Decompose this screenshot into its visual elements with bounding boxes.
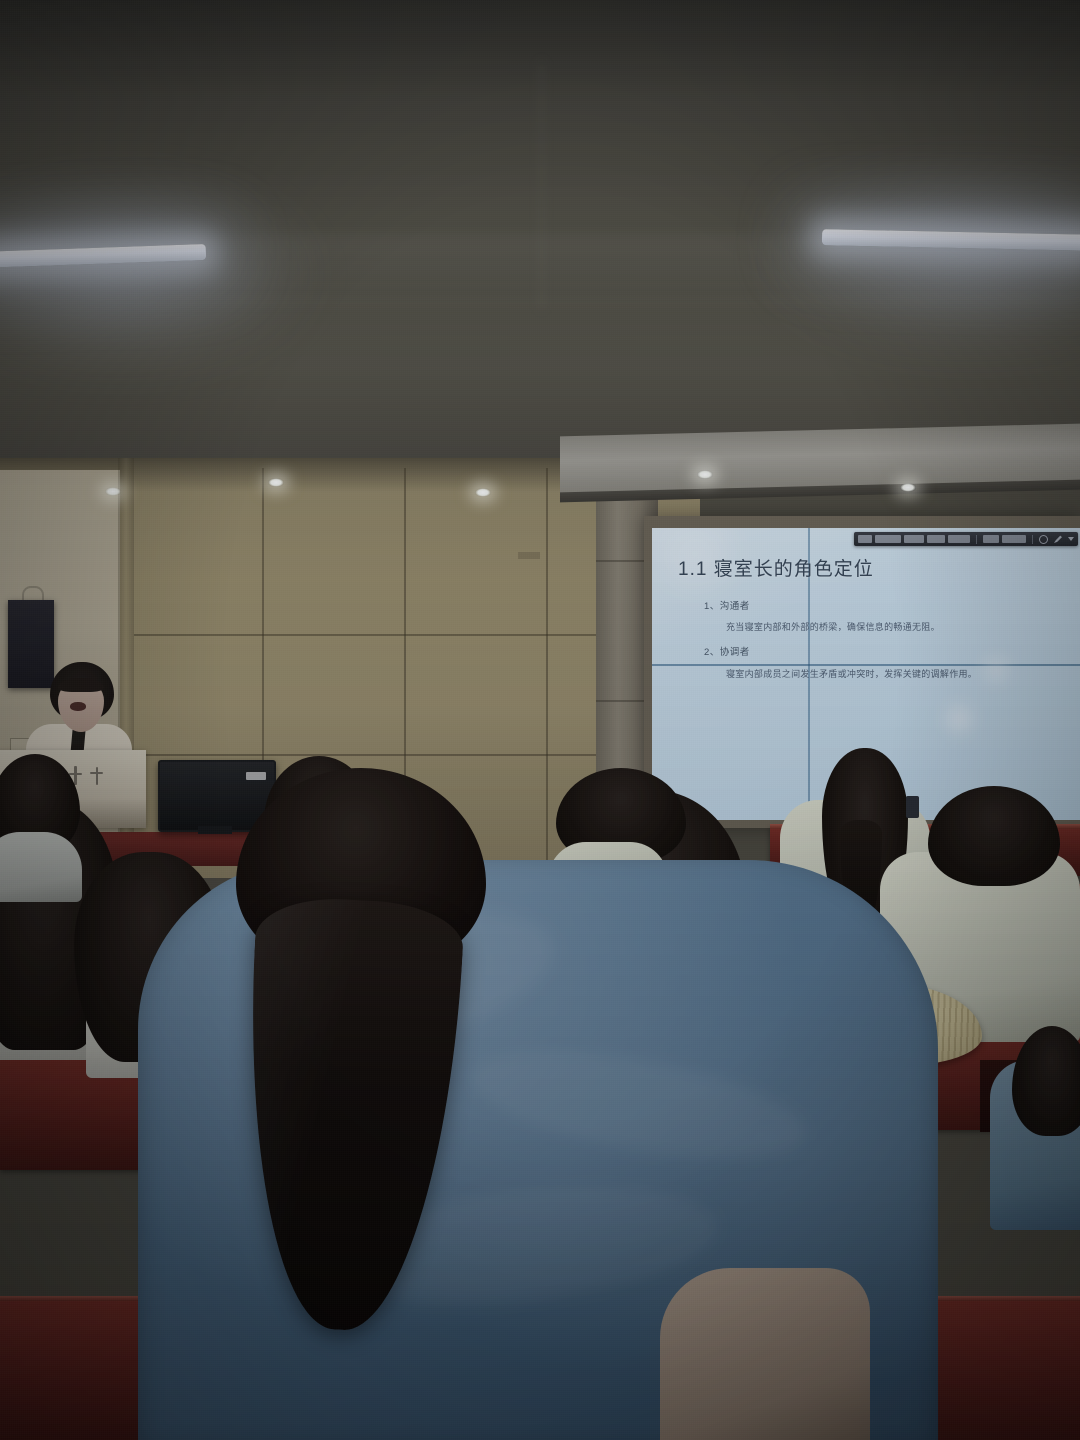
monitor-stand	[198, 826, 232, 834]
monitor-brand-badge	[246, 772, 266, 780]
lecture-hall-photo: 1.1 寝室长的角色定位 1、沟通者 充当寝室内部和外部的桥梁，确保信息的畅通无…	[0, 0, 1080, 1440]
ceiling-panel-edge	[540, 60, 543, 310]
recessed-downlight	[475, 488, 491, 497]
slide-bullet-detail: 充当寝室内部和外部的桥梁，确保信息的畅通无阻。	[726, 620, 940, 633]
presenter-fringe	[58, 678, 104, 692]
recessed-downlight	[900, 483, 916, 492]
recessed-downlight	[697, 470, 713, 479]
foreground-arm	[660, 1268, 870, 1440]
fabric-fold	[463, 1031, 813, 1179]
slide-bullet-detail: 寝室内部成员之间发生矛盾或冲突时，发挥关键的调解作用。	[726, 667, 977, 680]
smartphone[interactable]	[906, 796, 919, 818]
recessed-downlight	[105, 487, 121, 496]
slide-bullet-heading: 2、协调者	[704, 644, 750, 658]
slide-title: 1.1 寝室长的角色定位	[678, 554, 874, 581]
wall-vent	[518, 552, 540, 559]
recessed-downlight	[268, 478, 284, 487]
presenter-mouth	[70, 702, 86, 711]
student-shirt	[0, 832, 82, 902]
slide-bullet-heading: 1、沟通者	[704, 598, 750, 612]
wall-seam	[546, 468, 548, 878]
